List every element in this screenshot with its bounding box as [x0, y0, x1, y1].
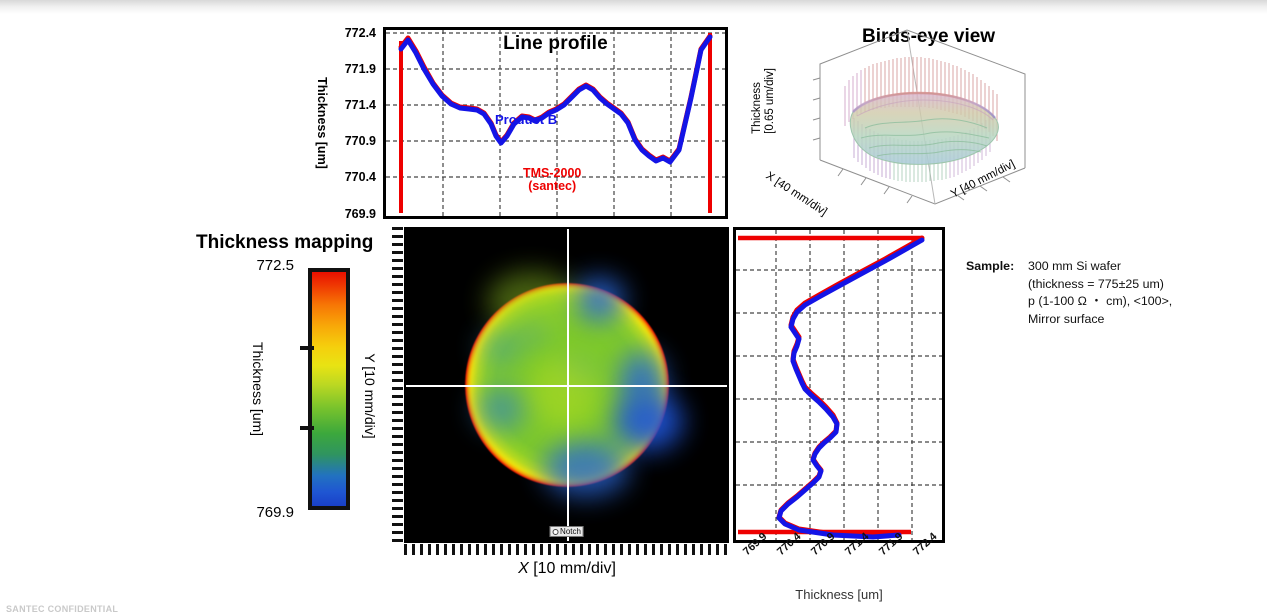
sample-line-2: (thickness = 775±25 um): [1028, 276, 1246, 294]
trace-product-b: [401, 37, 710, 162]
thickness-colorbar: [308, 268, 350, 510]
trace-product-b-right: [779, 240, 922, 537]
sample-line-3: p (1-100 Ω ・ cm), <100>,: [1028, 293, 1246, 311]
thickness-colorbar-group: 772.5 769.9 Thickness [um]: [228, 268, 358, 510]
gridlines-horizontal: [736, 270, 942, 485]
map-x-axis-units: [10 mm/div]: [529, 560, 616, 577]
colorbar-tick-lower: [300, 426, 314, 430]
thickness-mapping-title: Thickness mapping: [196, 232, 373, 254]
colorbar-max-label: 772.5: [228, 257, 294, 274]
high-blob-upperleft: [487, 271, 577, 331]
low-blob-1: [573, 277, 625, 321]
lp-ytick-5: 769.9: [345, 207, 376, 221]
notch-label: Notch: [560, 527, 581, 536]
sample-line-4: Mirror surface: [1028, 311, 1246, 329]
notch-marker: Notch: [549, 526, 584, 537]
notch-dot-icon: [552, 529, 558, 535]
lp-ytick-1: 771.9: [345, 62, 376, 76]
thickness-map-image[interactable]: Notch: [404, 227, 729, 543]
birds-eye-z-axis-title: Thickness [0.65 um/div]: [751, 68, 777, 134]
sample-description: Sample: 300 mm Si wafer (thickness = 775…: [966, 258, 1246, 328]
colorbar-tick-upper: [300, 346, 314, 350]
line-profile-y-axis-title: Thickness [um]: [315, 77, 329, 169]
legend-tms-line2: (santec): [523, 180, 581, 193]
slide-canvas: Line profile Product B TMS-2000 (santec)…: [0, 0, 1267, 615]
right-profile-plot-area: [733, 227, 945, 543]
low-blob-5: [475, 387, 527, 431]
colorbar-min-label: 769.9: [228, 504, 294, 521]
legend-product-b: Product B: [495, 112, 557, 127]
right-profile-x-axis-title: Thickness [um]: [795, 587, 882, 602]
birds-eye-z-line1: Thickness: [751, 82, 763, 134]
map-ruler-left: [392, 227, 403, 543]
lp-ytick-4: 770.4: [345, 170, 376, 184]
line-profile-title: Line profile: [383, 33, 728, 55]
right-profile-chart: 769.9 770.4 770.9 771.4 771.9 772.4 Thic…: [733, 227, 945, 543]
legend-tms-2000: TMS-2000 (santec): [523, 167, 581, 193]
lp-ytick-2: 771.4: [345, 98, 376, 112]
sample-body: 300 mm Si wafer (thickness = 775±25 um) …: [1028, 258, 1246, 328]
low-blob-3: [613, 391, 683, 451]
slide-top-gradient-band: [0, 0, 1267, 14]
z-axis-ticks: [813, 78, 820, 140]
low-blob-4: [543, 441, 629, 497]
high-blob-center: [531, 357, 597, 427]
sample-label: Sample:: [966, 258, 1014, 276]
colorbar-axis-title: Thickness [um]: [250, 342, 266, 436]
confidentiality-footer: SANTEC CONFIDENTIAL: [6, 604, 118, 614]
map-x-axis-symbol: X: [518, 560, 529, 577]
map-x-axis-title: X [10 mm/div]: [518, 560, 616, 578]
line-profile-chart: Line profile Product B TMS-2000 (santec)…: [383, 27, 728, 219]
birds-eye-chart: Birds-eye view: [757, 8, 1057, 223]
map-ruler-bottom: [404, 544, 729, 555]
birds-eye-z-line2: [0.65 um/div]: [764, 68, 776, 134]
map-y-axis-title: Y [10 mm/div]: [362, 353, 378, 438]
x-axis-ticks: [838, 169, 912, 203]
lp-ytick-0: 772.4: [345, 26, 376, 40]
sample-line-1: 300 mm Si wafer: [1028, 258, 1246, 276]
crosshair-vertical: [567, 229, 569, 541]
lp-ytick-3: 770.9: [345, 134, 376, 148]
